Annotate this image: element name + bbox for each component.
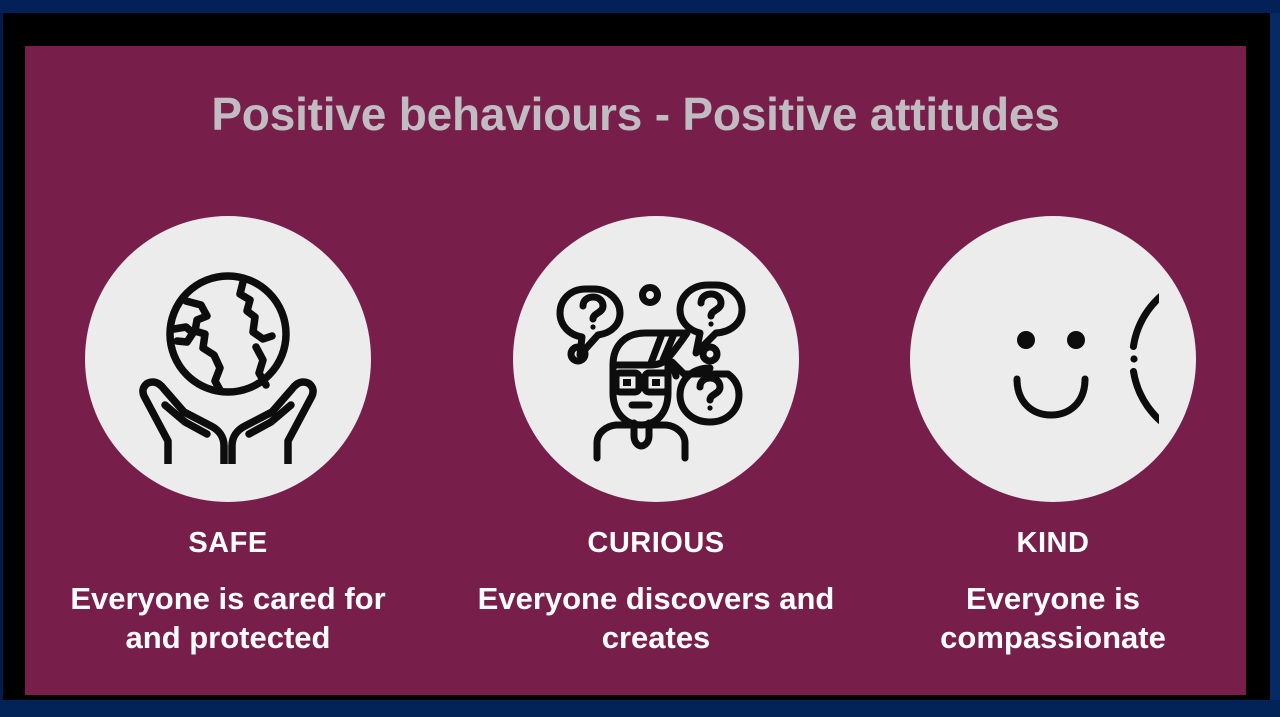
presentation-slide: Positive behaviours - Positive attitudes [0,0,1280,717]
slide-letterbox-frame: Positive behaviours - Positive attitudes [3,13,1270,700]
value-card-safe: SAFE Everyone is cared for and protected [25,216,431,658]
bezel-bottom-edge [0,700,1280,717]
value-icon-circle-safe [85,216,371,502]
value-icon-circle-curious [513,216,799,502]
value-description-kind: Everyone is compassionate [873,580,1233,658]
smiley-face-icon [947,253,1159,465]
value-card-curious: CURIOUS Everyone discovers and creates [453,216,859,658]
value-description-safe: Everyone is cared for and protected [48,580,408,658]
values-row: SAFE Everyone is cared for and protected [25,46,1246,695]
value-name-curious: CURIOUS [587,529,724,558]
value-icon-circle-kind [910,216,1196,502]
bezel-top-edge [0,0,1280,13]
value-card-kind: KIND Everyone is compassionate [850,216,1246,658]
hands-holding-globe-icon [123,254,333,464]
value-name-kind: KIND [1017,529,1090,558]
bezel-right-edge [1270,0,1280,717]
person-with-question-bubbles-icon [550,253,762,465]
slide-canvas: Positive behaviours - Positive attitudes [25,46,1246,695]
value-description-curious: Everyone discovers and creates [476,580,836,658]
value-name-safe: SAFE [188,529,267,558]
